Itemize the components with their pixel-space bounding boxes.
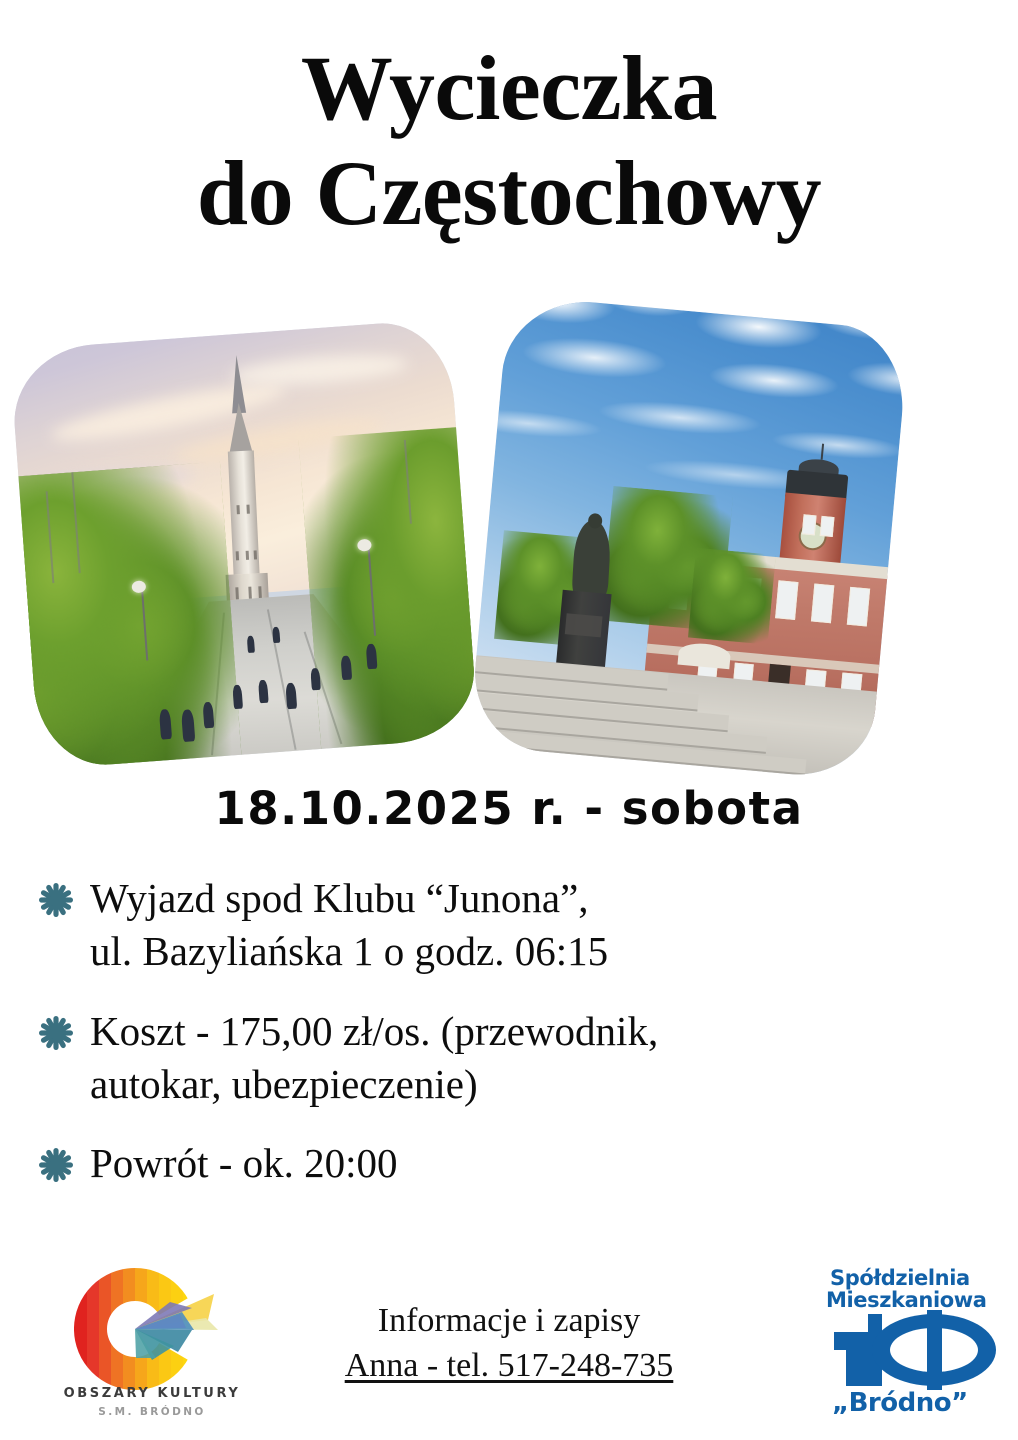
sm-brodno-line-2: Mieszkaniowa [826,1288,1010,1312]
photo-collage [0,300,1018,770]
asterisk-icon [36,880,76,920]
photo-ratusz [468,295,909,782]
title-line-1: Wycieczka [0,36,1018,141]
page-title: Wycieczka do Częstochowy [0,36,1018,246]
list-item-text: Wyjazd spod Klubu “Junona”, ul. Bazyliań… [90,872,608,979]
contact-info: Informacje i zapisy Anna - tel. 517-248-… [269,1298,749,1388]
asterisk-icon [36,1013,76,1053]
sm-brodno-logo: Spółdzielnia Mieszkaniowa „Bródno” [818,1262,1008,1432]
list-item: Wyjazd spod Klubu “Junona”, ul. Bazyliań… [36,872,956,979]
obszary-kultury-logo: OBSZARY KULTURY S.M. BRÓDNO [52,1268,252,1436]
sm-brodno-line-3: „Bródno” [832,1388,1012,1418]
poster: Wycieczka do Częstochowy [0,0,1018,1440]
title-line-2: do Częstochowy [0,141,1018,246]
list-item-text: Powrót - ok. 20:00 [90,1137,398,1190]
footer: OBSZARY KULTURY S.M. BRÓDNO Informacje i… [0,1262,1018,1440]
obszary-kultury-mark [74,1268,226,1390]
asterisk-icon [36,1145,76,1185]
tree-group-right [298,423,479,765]
details-list: Wyjazd spod Klubu “Junona”, ul. Bazyliań… [36,872,956,1216]
info-contact: Anna - tel. 517-248-735 [269,1343,749,1388]
event-date: 18.10.2025 r. - sobota [0,782,1018,835]
sm-brodno-mark [824,1310,1002,1390]
photo-jasna-gora [9,318,479,769]
obszary-kultury-subcaption: S.M. BRÓDNO [52,1406,252,1418]
obszary-kultury-caption: OBSZARY KULTURY [52,1386,252,1401]
list-item: Powrót - ok. 20:00 [36,1137,956,1190]
sm-brodno-line-1: Spółdzielnia [830,1266,1010,1290]
info-heading: Informacje i zapisy [269,1298,749,1343]
list-item: Koszt - 175,00 zł/os. (przewodnik, autok… [36,1005,956,1112]
list-item-text: Koszt - 175,00 zł/os. (przewodnik, autok… [90,1005,658,1112]
tree [688,548,776,645]
